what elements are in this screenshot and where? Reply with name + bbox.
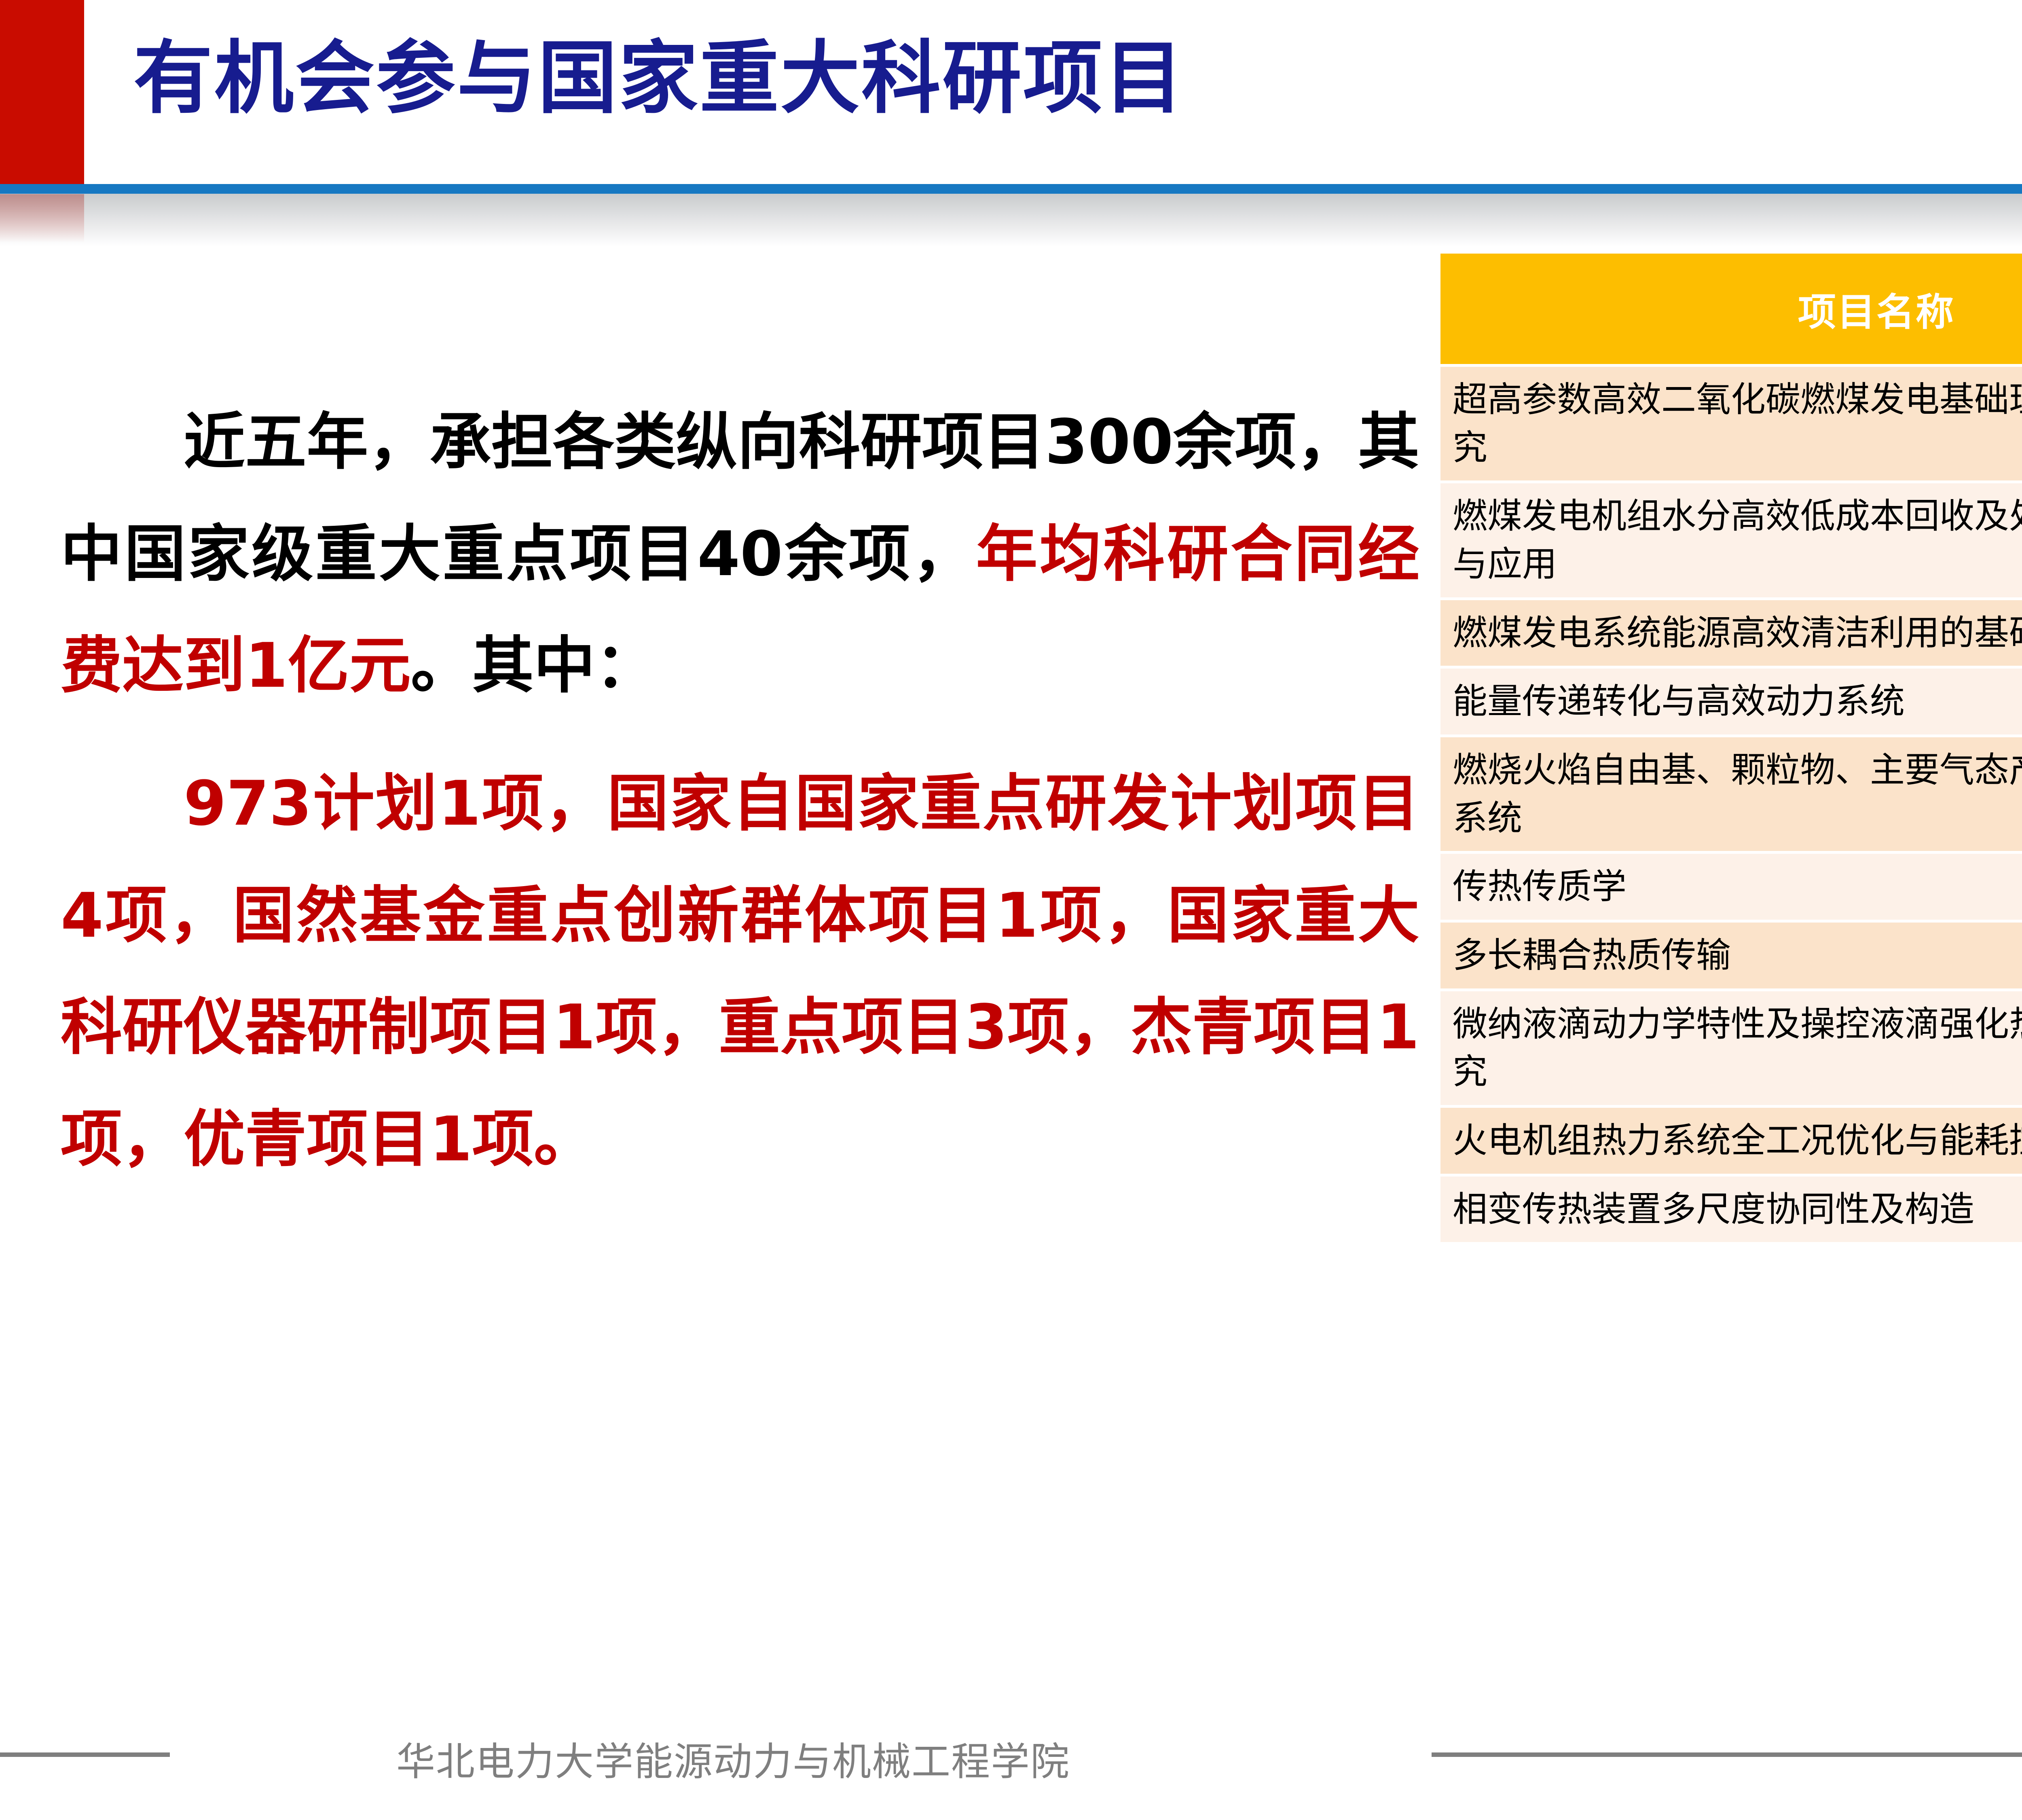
- body-text-block: 近五年，承担各类纵向科研项目300余项，其中国家级重大重点项目40余项，年均科研…: [61, 386, 1419, 1221]
- paragraph1-segment3: 。其中：: [411, 630, 657, 701]
- column-header-project-name: 项目名称: [1440, 254, 2022, 364]
- cell-project-name: 燃煤发电机组水分高效低成本回收及处理关键技术研究与应用: [1440, 483, 2022, 600]
- table-row: 燃烧火焰自由基、颗粒物、主要气态产物光谱/成像检测系统 国家重大科研仪器研制项目…: [1440, 737, 2022, 854]
- cell-project-name: 燃烧火焰自由基、颗粒物、主要气态产物光谱/成像检测系统: [1440, 737, 2022, 854]
- footer-rule-left: [0, 1752, 170, 1757]
- cell-project-name: 相变传热装置多尺度协同性及构造: [1440, 1177, 2022, 1245]
- projects-table: 项目名称 项目类型 负责人 超高参数高效二氧化碳燃煤发电基础理论与关键技术研究 …: [1440, 254, 2022, 1245]
- cell-project-name: 传热传质学: [1440, 854, 2022, 923]
- cell-project-name: 燃煤发电系统能源高效清洁利用的基础研究: [1440, 600, 2022, 669]
- cell-project-name: 能量传递转化与高效动力系统: [1440, 669, 2022, 737]
- header-red-accent-bar: [0, 0, 84, 184]
- table-row: 微纳液滴动力学特性及操控液滴强化热质传递的基础研究 重点项目 王晓东: [1440, 991, 2022, 1108]
- paragraph-breakdown: 973计划1项，国家自国家重点研发计划项目4项，国然基金重点创新群体项目1项，国…: [61, 748, 1419, 1196]
- table-row: 相变传热装置多尺度协同性及构造 重点项目 徐进良: [1440, 1177, 2022, 1245]
- table-row: 火电机组热力系统全工况优化与能耗控制策略研究 重点项目 杨勇平: [1440, 1108, 2022, 1177]
- table-row: 燃煤发电机组水分高效低成本回收及处理关键技术研究与应用 国家重点研发计划 陈海平: [1440, 483, 2022, 600]
- header-divider-reflection: [0, 194, 2022, 246]
- table-header-row: 项目名称 项目类型 负责人: [1440, 254, 2022, 364]
- cell-project-name: 火电机组热力系统全工况优化与能耗控制策略研究: [1440, 1108, 2022, 1177]
- cell-project-name: 多长耦合热质传输: [1440, 923, 2022, 991]
- cell-project-name: 微纳液滴动力学特性及操控液滴强化热质传递的基础研究: [1440, 991, 2022, 1108]
- table-row: 能量传递转化与高效动力系统 基金群体 杨勇平: [1440, 669, 2022, 737]
- table-row: 燃煤发电系统能源高效清洁利用的基础研究 国家973计划 杨勇平: [1440, 600, 2022, 669]
- table-body: 超高参数高效二氧化碳燃煤发电基础理论与关键技术研究 国家重点研发计划 徐进良 燃…: [1440, 364, 2022, 1245]
- cell-project-name: 超高参数高效二氧化碳燃煤发电基础理论与关键技术研究: [1440, 364, 2022, 483]
- table-row: 传热传质学 国家杰青 王晓东: [1440, 854, 2022, 923]
- header-blue-divider-line: [0, 184, 2022, 194]
- table-row: 超高参数高效二氧化碳燃煤发电基础理论与关键技术研究 国家重点研发计划 徐进良: [1440, 364, 2022, 483]
- footer-organization: 华北电力大学能源动力与机械工程学院: [396, 1730, 1070, 1786]
- table-row: 多长耦合热质传输 国家优青 徐超: [1440, 923, 2022, 991]
- page-title: 有机会参与国家重大科研项目: [133, 37, 1185, 121]
- slide-canvas: 有机会参与国家重大科研项目 1858 华北 NORTH CHINA 华北电力大学…: [0, 0, 2022, 1820]
- footer-rule-middle: [1432, 1752, 2022, 1757]
- paragraph-summary: 近五年，承担各类纵向科研项目300余项，其中国家级重大重点项目40余项，年均科研…: [61, 386, 1419, 722]
